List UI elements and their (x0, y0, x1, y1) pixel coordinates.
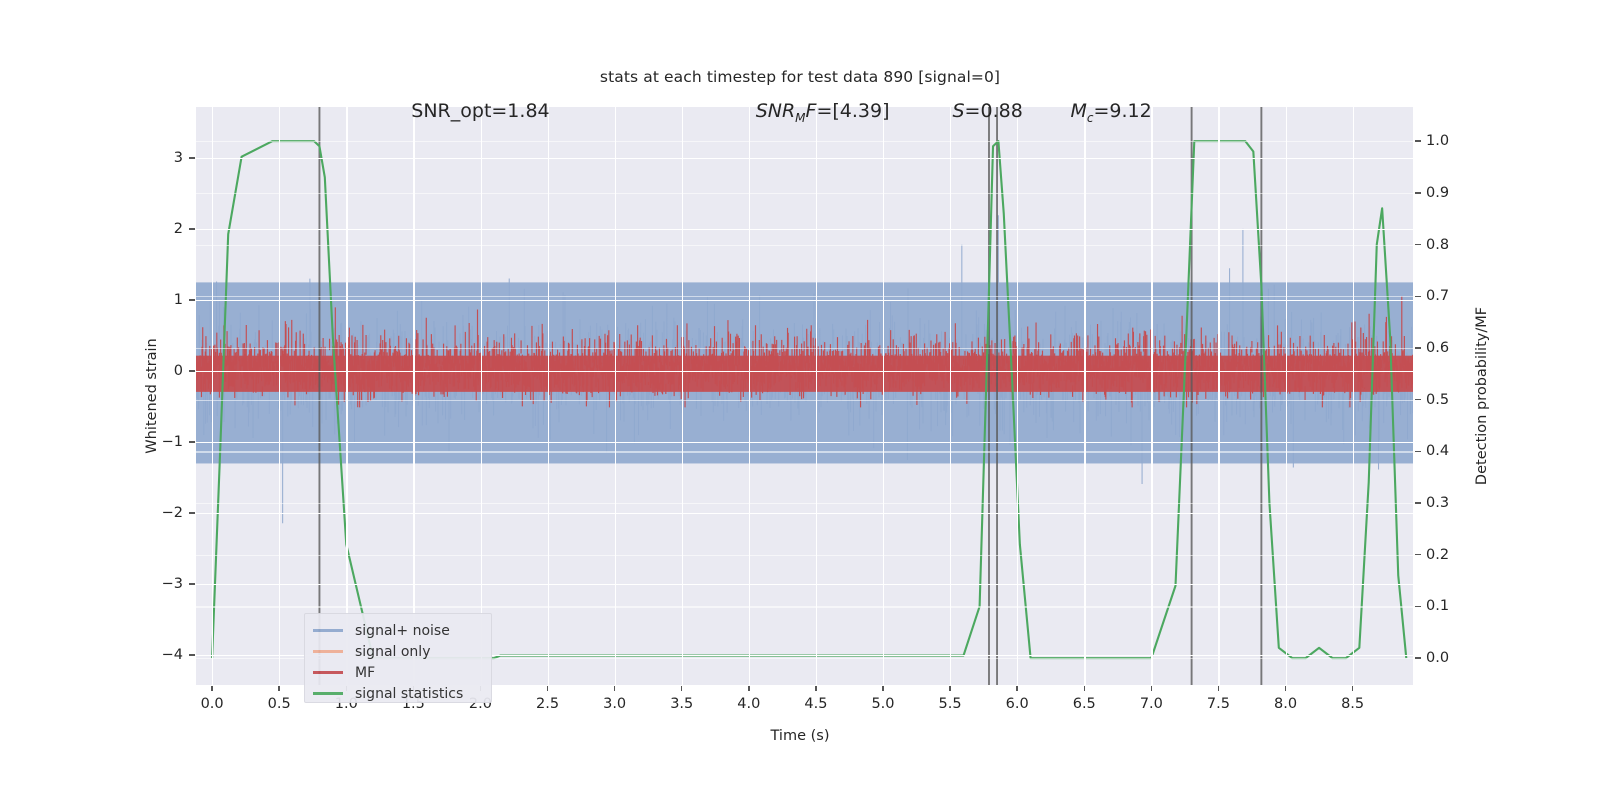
legend-box[interactable]: signal+ noisesignal onlyMFsignal statist… (304, 613, 492, 703)
x-tick-label: 6.5 (1073, 696, 1096, 712)
tick-mark-y-right (1415, 140, 1421, 141)
tick-mark-y-left (189, 299, 195, 300)
legend-item-3[interactable]: signal statistics (313, 683, 483, 704)
x-tick-label: 0.5 (268, 696, 291, 712)
y-tick-label-right: 0.9 (1426, 185, 1449, 201)
tick-mark-y-right (1415, 296, 1421, 297)
y-tick-label-right: 0.6 (1426, 340, 1449, 356)
tick-mark-y-right (1415, 554, 1421, 555)
gridline-horizontal (196, 513, 1413, 514)
tick-mark-y-left (189, 370, 195, 371)
tick-mark-y-right (1415, 399, 1421, 400)
y-axis-label-left: Whitened strain (144, 338, 160, 453)
y-tick-label-right: 0.7 (1426, 288, 1449, 304)
x-tick-label: 0.0 (201, 696, 224, 712)
tick-mark-x (278, 686, 279, 691)
annotation-signal-stat: S=0.88 (952, 100, 1022, 122)
y-tick-label-right: 1.0 (1426, 133, 1449, 149)
legend-label: signal only (355, 644, 430, 660)
gridline-horizontal-secondary (196, 400, 1413, 401)
tick-mark-y-left (189, 441, 195, 442)
tick-mark-x (1016, 686, 1017, 691)
y-tick-label-left: 1 (174, 292, 183, 308)
y-tick-label-right: 0.4 (1426, 443, 1449, 459)
x-tick-label: 3.5 (670, 696, 693, 712)
gridline-horizontal-secondary (196, 451, 1413, 452)
tick-mark-y-right (1415, 451, 1421, 452)
tick-mark-y-right (1415, 244, 1421, 245)
gridline-horizontal (196, 300, 1413, 301)
y-tick-label-right: 0.5 (1426, 392, 1449, 408)
tick-mark-y-left (189, 512, 195, 513)
gridline-horizontal-secondary (196, 503, 1413, 504)
y-tick-label-left: 2 (174, 221, 183, 237)
x-tick-label: 2.5 (536, 696, 559, 712)
y-tick-label-left: −3 (162, 576, 183, 592)
y-tick-label-right: 0.1 (1426, 598, 1449, 614)
legend-label: signal+ noise (355, 623, 450, 639)
legend-item-2[interactable]: MF (313, 662, 483, 683)
tick-mark-x (1285, 686, 1286, 691)
tick-mark-y-left (189, 654, 195, 655)
tick-mark-y-right (1415, 192, 1421, 193)
annotation-chirp-mass: Mc=9.12 (1070, 100, 1151, 125)
legend-label: MF (355, 665, 375, 681)
x-tick-label: 3.0 (603, 696, 626, 712)
gridline-horizontal (196, 158, 1413, 159)
tick-mark-x (1352, 686, 1353, 691)
legend-swatch-icon (313, 692, 343, 694)
gridline-horizontal (196, 229, 1413, 230)
tick-mark-x (1151, 686, 1152, 691)
x-tick-label: 8.5 (1341, 696, 1364, 712)
gridline-horizontal (196, 371, 1413, 372)
tick-mark-x (815, 686, 816, 691)
tick-mark-x (614, 686, 615, 691)
gridline-horizontal (196, 584, 1413, 585)
y-tick-label-right: 0.3 (1426, 495, 1449, 511)
tick-mark-y-right (1415, 657, 1421, 658)
tick-mark-x (882, 686, 883, 691)
y-tick-label-right: 0.8 (1426, 237, 1449, 253)
tick-mark-x (211, 686, 212, 691)
x-tick-label: 5.0 (871, 696, 894, 712)
tick-mark-x (949, 686, 950, 691)
gridline-horizontal-secondary (196, 606, 1413, 607)
tick-mark-y-left (189, 583, 195, 584)
annotation-snr-mf: SNRMF=[4.39] (756, 100, 890, 125)
tick-mark-y-right (1415, 347, 1421, 348)
gridline-horizontal-secondary (196, 245, 1413, 246)
gridline-horizontal-secondary (196, 555, 1413, 556)
tick-mark-y-right (1415, 606, 1421, 607)
y-tick-label-right: 0.0 (1426, 650, 1449, 666)
legend-swatch-icon (313, 650, 343, 652)
legend-swatch-icon (313, 671, 343, 673)
y-tick-label-left: 0 (174, 363, 183, 379)
tick-mark-x (1084, 686, 1085, 691)
figure-canvas: stats at each timestep for test data 890… (0, 0, 1600, 800)
x-tick-label: 5.5 (939, 696, 962, 712)
gridline-horizontal-secondary (196, 348, 1413, 349)
y-axis-label-right: Detection probability/MF (1474, 307, 1490, 485)
legend-label: signal statistics (355, 686, 463, 702)
y-tick-label-left: −4 (162, 647, 183, 663)
x-tick-label: 8.0 (1274, 696, 1297, 712)
legend-item-0[interactable]: signal+ noise (313, 620, 483, 641)
y-tick-label-left: −1 (162, 434, 183, 450)
tick-mark-x (681, 686, 682, 691)
gridline-horizontal (196, 442, 1413, 443)
mf-core-band (196, 356, 1413, 392)
tick-mark-y-left (189, 157, 195, 158)
tick-mark-x (547, 686, 548, 691)
x-axis-label: Time (s) (0, 728, 1600, 744)
legend-item-1[interactable]: signal only (313, 641, 483, 662)
legend-swatch-icon (313, 629, 343, 631)
x-tick-label: 4.5 (804, 696, 827, 712)
gridline-horizontal-secondary (196, 296, 1413, 297)
y-tick-label-left: 3 (174, 150, 183, 166)
tick-mark-y-left (189, 228, 195, 229)
chart-title: stats at each timestep for test data 890… (0, 68, 1600, 86)
tick-mark-x (748, 686, 749, 691)
gridline-horizontal-secondary (196, 193, 1413, 194)
x-tick-label: 7.0 (1140, 696, 1163, 712)
tick-mark-x (1218, 686, 1219, 691)
plot-area (196, 107, 1413, 685)
x-tick-label: 4.0 (737, 696, 760, 712)
y-tick-label-right: 0.2 (1426, 547, 1449, 563)
tick-mark-y-right (1415, 502, 1421, 503)
gridline-horizontal-secondary (196, 141, 1413, 142)
annotation-snr-opt: SNR_opt=1.84 (411, 100, 549, 122)
x-tick-label: 6.0 (1006, 696, 1029, 712)
x-tick-label: 7.5 (1207, 696, 1230, 712)
y-tick-label-left: −2 (162, 505, 183, 521)
